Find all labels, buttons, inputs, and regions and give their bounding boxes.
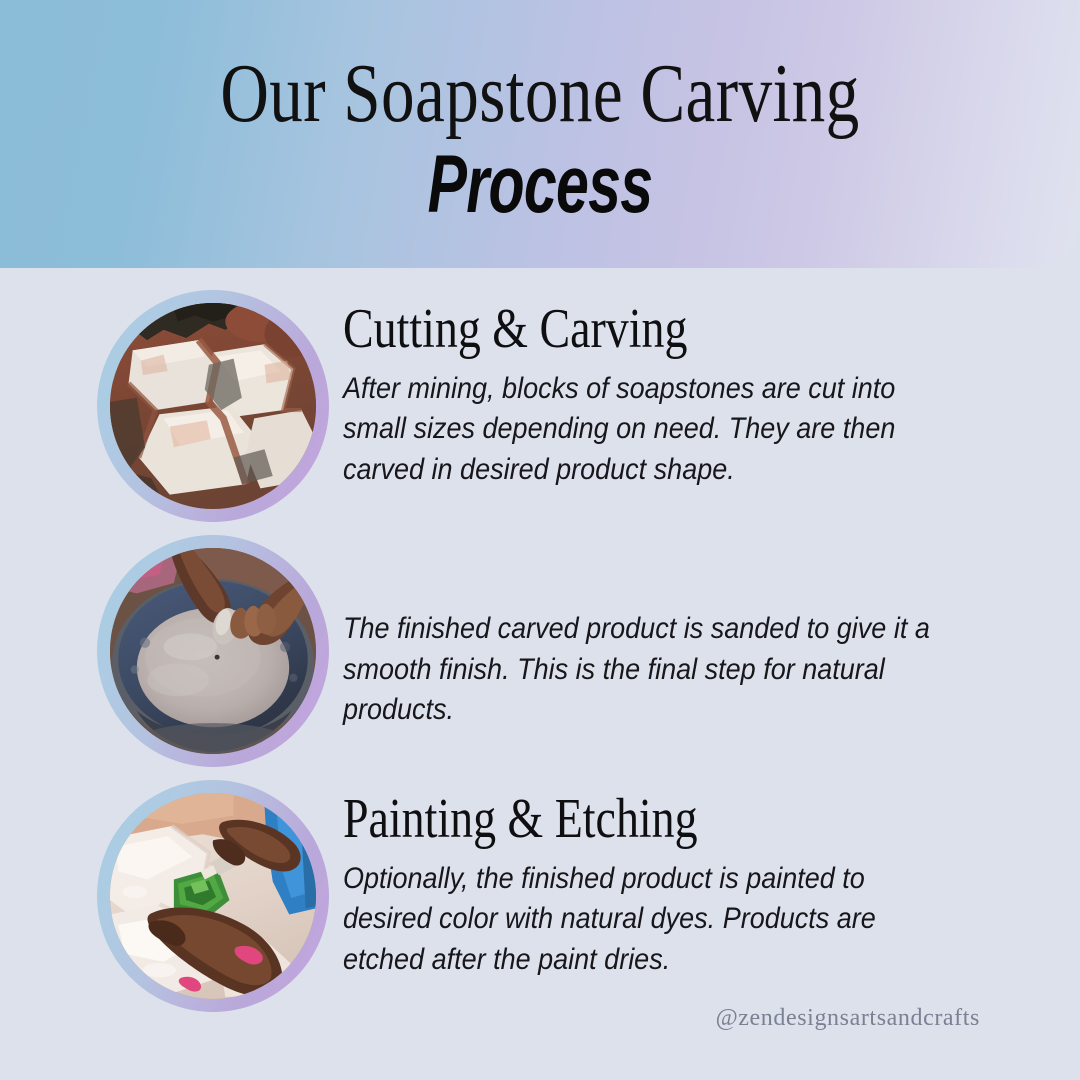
page-title-line-1: Our Soapstone Carving bbox=[108, 52, 972, 136]
step-image-ring bbox=[97, 535, 329, 767]
process-step: The finished carved product is sanded to… bbox=[0, 535, 1080, 767]
step-image-ring bbox=[97, 780, 329, 1012]
sanding-in-water-basin-photo bbox=[110, 548, 316, 754]
process-step: Painting & Etching Optionally, the finis… bbox=[0, 780, 1080, 1012]
painting-etching-photo bbox=[110, 793, 316, 999]
page-title-line-2: Process bbox=[151, 142, 929, 228]
step-copy: Cutting & Carving After mining, blocks o… bbox=[329, 290, 1080, 490]
step-copy: The finished carved product is sanded to… bbox=[329, 535, 1080, 731]
step-image-ring bbox=[97, 290, 329, 522]
step-body-text: Optionally, the finished product is pain… bbox=[343, 859, 956, 981]
infographic-poster: Our Soapstone Carving Process bbox=[0, 0, 1080, 1080]
step-heading: Painting & Etching bbox=[343, 790, 901, 849]
step-copy: Painting & Etching Optionally, the finis… bbox=[329, 780, 1080, 980]
process-step: Cutting & Carving After mining, blocks o… bbox=[0, 290, 1080, 522]
header-title-block: Our Soapstone Carving Process bbox=[0, 52, 1080, 228]
step-body-text: After mining, blocks of soapstones are c… bbox=[343, 369, 956, 491]
step-body-text: The finished carved product is sanded to… bbox=[343, 609, 956, 731]
step-heading: Cutting & Carving bbox=[343, 300, 901, 359]
social-handle-watermark: @zendesignsartsandcrafts bbox=[716, 1005, 980, 1032]
soapstone-blocks-photo bbox=[110, 303, 316, 509]
header-banner: Our Soapstone Carving Process bbox=[0, 0, 1080, 268]
